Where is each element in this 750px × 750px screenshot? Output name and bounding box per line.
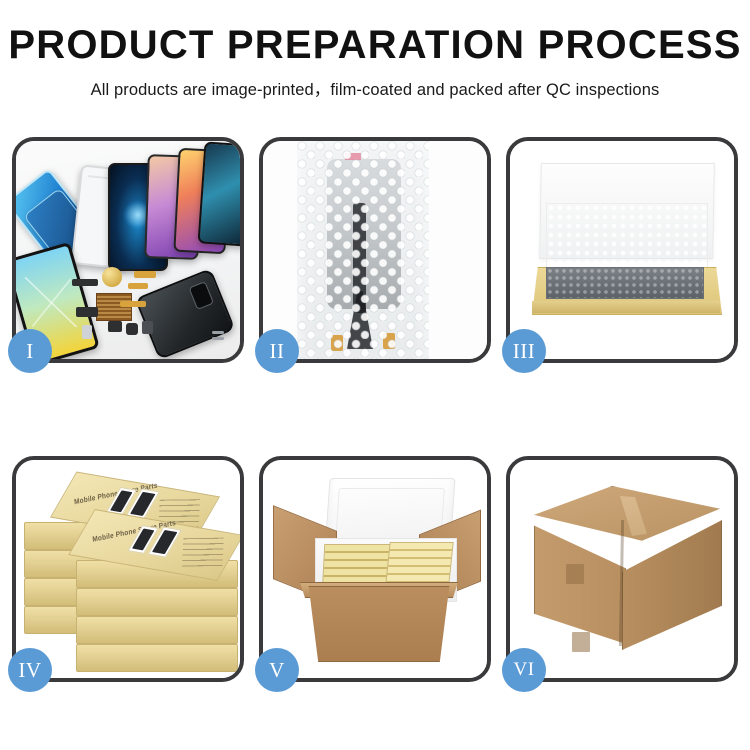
step-5-image <box>263 460 487 678</box>
stacked-box-edge <box>76 588 238 616</box>
small-chip-icon <box>72 279 98 286</box>
infographic-page: PRODUCT PREPARATION PROCESS All products… <box>0 0 750 750</box>
coil-part-icon <box>102 267 122 287</box>
process-step-3: III <box>506 137 738 363</box>
button-part-icon <box>108 321 122 332</box>
stacked-box-edge <box>76 616 238 644</box>
phone-parts-scene <box>16 141 240 359</box>
wrapped-contents-icon <box>546 267 704 299</box>
page-subtitle: All products are image-printed，film-coat… <box>0 76 750 100</box>
kraft-tray-edge <box>532 301 720 313</box>
step-1-image <box>16 141 240 359</box>
process-step-grid: I II <box>12 137 738 682</box>
header: PRODUCT PREPARATION PROCESS All products… <box>0 0 750 100</box>
stacked-box-edge <box>76 644 238 672</box>
phone-rear-housing-icon <box>135 268 236 359</box>
process-step-4: Mobile Phone Spare Parts Mobile Phone Sp… <box>12 456 244 682</box>
page-title: PRODUCT PREPARATION PROCESS <box>0 24 750 66</box>
bubble-wrap-scene <box>263 141 487 359</box>
carton-tab-icon <box>572 632 590 652</box>
carton-tab-icon <box>566 564 584 584</box>
teal-phone-icon <box>198 141 240 246</box>
flex-cable-icon <box>134 271 156 278</box>
bubble-wrap-bag <box>297 141 429 359</box>
bubble-texture <box>297 141 429 359</box>
flex-cable-icon <box>128 283 148 289</box>
camera-part-icon <box>126 323 138 335</box>
step-badge-4: IV <box>8 648 52 692</box>
process-step-6: VI <box>506 456 738 682</box>
step-badge-6: VI <box>502 648 546 692</box>
flex-cable-icon <box>120 301 146 307</box>
screw-icon <box>212 331 224 334</box>
speaker-part-icon <box>142 321 153 334</box>
step-badge-1: I <box>8 329 52 373</box>
stacked-boxes-scene: Mobile Phone Spare Parts Mobile Phone Sp… <box>16 460 240 678</box>
sealed-carton-scene <box>510 460 734 678</box>
inner-box-scene <box>510 141 734 359</box>
process-step-2: II <box>259 137 491 363</box>
connector-icon <box>76 307 98 317</box>
ic-chip-icon <box>96 293 132 321</box>
carton-front-panel <box>299 586 459 662</box>
process-step-5: V <box>259 456 491 682</box>
process-step-1: I <box>12 137 244 363</box>
box-spec-lines <box>182 538 224 567</box>
carton-packing-scene <box>263 460 487 678</box>
step-2-image <box>263 141 487 359</box>
step-badge-5: V <box>255 648 299 692</box>
foam-sheet-icon <box>546 203 708 271</box>
sim-tray-icon <box>82 325 92 339</box>
screw-icon <box>212 337 224 340</box>
step-badge-3: III <box>502 329 546 373</box>
step-3-image <box>510 141 734 359</box>
step-6-image <box>510 460 734 678</box>
box-stack: Mobile Phone Spare Parts Mobile Phone Sp… <box>20 476 240 672</box>
step-4-image: Mobile Phone Spare Parts Mobile Phone Sp… <box>16 460 240 678</box>
step-badge-2: II <box>255 329 299 373</box>
